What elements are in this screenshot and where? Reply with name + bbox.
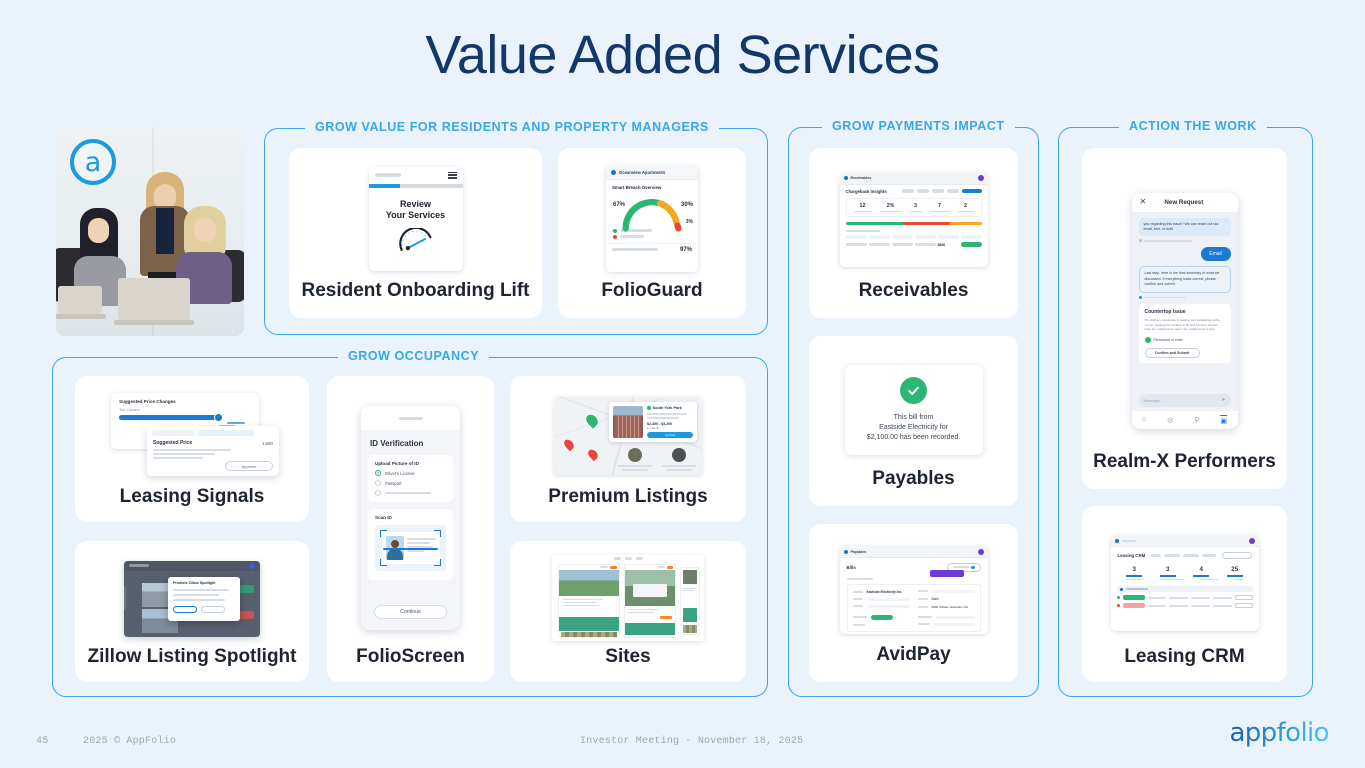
mockup-payables-toast: This bill from Eastside Electricity for … xyxy=(845,365,983,455)
key-icon[interactable]: ⚲ xyxy=(1194,416,1199,424)
receivables-panel-title: Chargeback Insights xyxy=(846,189,887,194)
stat-item: 25 xyxy=(1227,566,1243,577)
person-center-top xyxy=(156,208,174,254)
card-zillow-label: Zillow Listing Spotlight xyxy=(75,646,309,682)
card-avidpay-label: AvidPay xyxy=(809,644,1018,682)
realmx-bottom-nav: ⌂ ◎ ⚲ ▣ xyxy=(1132,411,1238,429)
chat-icon[interactable]: ▣ xyxy=(1220,415,1227,425)
status-badge xyxy=(1123,595,1145,600)
card-folioguard[interactable]: Oceanview Apartments Smart Breach Overvi… xyxy=(558,148,746,318)
price-changes-unit: The Camino xyxy=(111,404,259,412)
speedometer-icon xyxy=(398,228,434,252)
appfolio-logo-glyph: a xyxy=(85,147,102,178)
chat-bubble-incoming-1: you regarding this issue? We can reach o… xyxy=(1139,218,1231,237)
folioscreen-title: ID Verification xyxy=(361,430,460,455)
listing-photo xyxy=(613,406,643,438)
avidpay-avatar[interactable] xyxy=(978,549,984,555)
zillow-dialog-title: Promote Zillow Spotlight xyxy=(173,581,235,585)
crm-panel-title: Leasing CRM xyxy=(1118,553,1146,558)
receivables-table-title xyxy=(840,225,988,232)
card-resident-onboarding[interactable]: Review Your Services Resident Onboarding… xyxy=(289,148,542,318)
receivables-app-name: Receivables xyxy=(851,176,872,180)
compass-icon[interactable]: ◎ xyxy=(1167,416,1173,424)
onboarding-top-bar xyxy=(369,167,463,184)
avidpay-app-name: Payables xyxy=(851,550,867,554)
row-action-button[interactable] xyxy=(1235,603,1253,608)
crm-new-button[interactable] xyxy=(1222,552,1252,559)
summary-body: The kitchen countertop is peeling and se… xyxy=(1145,318,1225,332)
avidpay-panel-title: Bills xyxy=(847,565,856,570)
card-receivables-label: Receivables xyxy=(809,280,1018,318)
permission-row: Permission to enter xyxy=(1145,337,1225,343)
price-slider[interactable] xyxy=(119,415,219,420)
card-leasing-signals[interactable]: Suggested Price Changes The Camino xyxy=(75,376,309,522)
mockup-premium-listings: South York Park $2,450 - $3,200 1-2 Beds… xyxy=(554,397,702,475)
radio-selected-icon xyxy=(375,470,381,476)
folioscreen-scan-card: Scan ID xyxy=(368,509,453,580)
folioguard-legend-uncovered xyxy=(613,235,691,239)
card-avidpay[interactable]: Payables Bills xyxy=(809,524,1018,682)
realmx-header: ✕ New Request xyxy=(1132,193,1238,212)
upload-option-license-label: Driver's License xyxy=(385,471,415,476)
folioguard-right-pct: 30% xyxy=(681,202,693,208)
stat-item: 12 xyxy=(854,203,872,213)
realmx-header-title: New Request xyxy=(1146,199,1221,206)
folioscreen-upload-card: Upload Picture of ID Driver's License Pa… xyxy=(368,455,453,502)
chat-bubble-outgoing: Email xyxy=(1201,247,1231,261)
folioscreen-status-bar xyxy=(361,406,460,430)
continue-button[interactable]: Continue xyxy=(374,605,447,619)
card-realmx-label: Realm-X Performers xyxy=(1082,451,1287,489)
person-left-face xyxy=(88,218,109,243)
table-row[interactable] xyxy=(1117,603,1253,608)
stat-item: 2 xyxy=(958,203,974,213)
stat-item: 2% xyxy=(880,203,902,213)
realmx-summary-card: Countertop Issue The kitchen countertop … xyxy=(1139,304,1231,363)
card-leasing-signals-thumb: Suggested Price Changes The Camino xyxy=(75,384,309,486)
row-action-button[interactable] xyxy=(1235,595,1253,600)
crm-stats: 3 3 4 25 xyxy=(1111,559,1259,577)
folioguard-app-icon xyxy=(611,170,616,175)
site-page-3 xyxy=(680,567,700,635)
mockup-zillow-dashboard: Promote Zillow Spotlight xyxy=(124,561,260,637)
card-zillow-thumb: Promote Zillow Spotlight xyxy=(75,551,309,646)
mockup-leasing-signals: Suggested Price Changes The Camino xyxy=(103,393,281,477)
card-premium-listings-thumb: South York Park $2,450 - $3,200 1-2 Beds… xyxy=(510,386,746,486)
approve-button-label: Approve xyxy=(242,464,257,469)
realmx-chat: you regarding this issue? We can reach o… xyxy=(1132,212,1238,363)
confirm-submit-button[interactable]: Confirm and Submit xyxy=(1145,348,1200,358)
stat-item: 3 xyxy=(1126,566,1142,577)
table-row[interactable] xyxy=(1117,595,1253,600)
price-changes-title: Suggested Price Changes xyxy=(111,393,259,404)
home-icon[interactable]: ⌂ xyxy=(1142,416,1146,423)
realmx-composer[interactable]: Message... ➤ xyxy=(1139,394,1231,407)
folioguard-footer-pct: 97% xyxy=(680,247,692,253)
chat-bubble-outgoing-label: Email xyxy=(1209,251,1222,257)
footer-copyright: 2025 © AppFolio xyxy=(83,736,176,747)
stat-item: 4 xyxy=(1193,566,1209,577)
listing-contact-button[interactable]: Contact xyxy=(647,432,693,438)
mockup-sites xyxy=(552,555,704,641)
listing-mini-2[interactable] xyxy=(660,448,698,471)
footer: 45 2025 © AppFolio Investor Meeting - No… xyxy=(0,732,1365,754)
footer-meeting: Investor Meeting - November 18, 2025 xyxy=(580,736,803,747)
permission-label: Permission to enter xyxy=(1154,338,1183,342)
receivables-avatar[interactable] xyxy=(978,175,984,181)
hamburger-icon[interactable] xyxy=(448,172,457,179)
card-payables[interactable]: This bill from Eastside Electricity for … xyxy=(809,336,1018,506)
person-right-face xyxy=(194,218,216,242)
listing-contact-label: Contact xyxy=(665,433,675,437)
folioguard-header: Oceanview Apartments xyxy=(606,166,698,180)
card-leasing-crm-label: Leasing CRM xyxy=(1082,646,1287,682)
continue-button-label: Continue xyxy=(400,609,421,615)
zillow-confirm-button[interactable] xyxy=(173,606,197,613)
card-resident-onboarding-label: Resident Onboarding Lift xyxy=(289,280,542,318)
footer-page-number: 45 xyxy=(36,736,48,747)
permission-check-icon xyxy=(1145,337,1151,343)
group-residents-label: GROW VALUE FOR RESIDENTS AND PROPERTY MA… xyxy=(305,120,719,134)
group-occupancy-label: GROW OCCUPANCY xyxy=(338,349,489,363)
avidpay-highlight-badge xyxy=(930,570,964,577)
dialog-value: 1,650 xyxy=(262,441,273,446)
confirm-submit-label: Confirm and Submit xyxy=(1155,351,1189,355)
payables-msg-2: Eastside Electricity for xyxy=(867,423,960,433)
card-receivables[interactable]: Receivables Chargeback Insights xyxy=(809,148,1018,318)
legend-dot-uncovered xyxy=(613,235,617,239)
listing-detail-card: South York Park $2,450 - $3,200 1-2 Beds… xyxy=(609,402,697,442)
card-receivables-thumb: Receivables Chargeback Insights xyxy=(809,159,1018,280)
card-leasing-crm-thumb: Leasing CRM 3 3 xyxy=(1082,520,1287,646)
zillow-promote-dialog: Promote Zillow Spotlight xyxy=(168,577,240,621)
onboarding-headline-line1: Review xyxy=(373,199,459,210)
avidpay-status-chip xyxy=(871,615,893,620)
approve-button[interactable]: Approve xyxy=(225,461,273,471)
receivables-stats: 12 2% 3 7 2 xyxy=(846,198,982,218)
appfolio-logo-icon: a xyxy=(70,139,116,185)
payables-msg-1: This bill from xyxy=(867,413,960,423)
onboarding-headline-line2: Your Services xyxy=(373,210,459,221)
table-header-row xyxy=(846,235,982,239)
crm-table-header xyxy=(1117,586,1253,592)
hero-photo: a xyxy=(56,127,244,336)
card-zillow-spotlight[interactable]: Promote Zillow Spotlight Zillow Listing … xyxy=(75,541,309,682)
zillow-cancel-button[interactable] xyxy=(201,606,225,613)
site-page-2 xyxy=(624,564,676,638)
avidpay-form: Eastside Electricity Inc. xyxy=(847,584,981,632)
mockup-onboarding-phone: Review Your Services xyxy=(369,167,463,271)
avidpay-vendor: Eastside Electricity Inc. xyxy=(867,590,903,594)
receivables-table: $836 xyxy=(846,235,982,247)
mockup-folioguard-dashboard: Oceanview Apartments Smart Breach Overvi… xyxy=(606,166,698,272)
chat-bubble-incoming-2: Last step, here is the final summary of … xyxy=(1139,266,1231,293)
receivables-app-icon xyxy=(844,176,848,180)
scan-title: Scan ID xyxy=(375,515,446,520)
zillow-avatar xyxy=(249,563,255,569)
crm-avatar[interactable] xyxy=(1249,538,1255,544)
card-avidpay-thumb: Payables Bills xyxy=(809,536,1018,644)
upload-option-passport-label: Passport xyxy=(385,481,402,486)
card-folioscreen[interactable]: ID Verification Upload Picture of ID Dri… xyxy=(327,376,494,682)
listing-name: South York Park xyxy=(653,406,682,410)
status-badge xyxy=(961,242,982,247)
dialog-tab-2[interactable] xyxy=(198,430,254,436)
mockup-realmx-phone: ✕ New Request you regarding this issue? … xyxy=(1132,193,1238,429)
card-folioscreen-label: FolioScreen xyxy=(327,646,494,682)
dialog-title: Suggested Price xyxy=(153,440,192,446)
card-payables-thumb: This bill from Eastside Electricity for … xyxy=(809,352,1018,468)
table-row[interactable]: $836 xyxy=(846,242,982,247)
folioguard-gauge: 67% 30% 3% xyxy=(606,192,698,228)
card-sites-thumb xyxy=(510,549,746,646)
card-leasing-crm[interactable]: Leasing CRM 3 3 xyxy=(1082,506,1287,682)
card-premium-listings[interactable]: South York Park $2,450 - $3,200 1-2 Beds… xyxy=(510,376,746,522)
folioguard-footer: 97% xyxy=(606,243,698,256)
scan-line xyxy=(383,548,438,550)
group-action-label: ACTION THE WORK xyxy=(1119,119,1267,133)
suggested-price-dialog: Suggested Price 1,650 Approve xyxy=(147,426,279,476)
mockup-avidpay-dashboard: Payables Bills xyxy=(840,546,988,634)
status-badge xyxy=(1123,603,1145,608)
card-realmx-thumb: ✕ New Request you regarding this issue? … xyxy=(1082,170,1287,451)
slide-root: Value Added Services a xyxy=(0,0,1365,768)
upload-title: Upload Picture of ID xyxy=(375,461,446,466)
price-slider-handle[interactable] xyxy=(214,413,223,422)
crm-table-icon xyxy=(1120,588,1123,591)
folioguard-property: Oceanview Apartments xyxy=(619,170,665,175)
scan-frame xyxy=(375,525,446,571)
card-sites[interactable]: Sites xyxy=(510,541,746,682)
radio-icon-other xyxy=(375,490,381,496)
folioguard-small-pct: 3% xyxy=(686,219,693,225)
card-payables-label: Payables xyxy=(809,468,1018,506)
site-page-1 xyxy=(558,564,620,638)
page-title: Value Added Services xyxy=(0,0,1365,85)
card-folioguard-label: FolioGuard xyxy=(558,280,746,318)
summary-title: Countertop Issue xyxy=(1145,309,1225,315)
avidpay-app-icon xyxy=(844,550,848,554)
upload-option-passport[interactable]: Passport xyxy=(375,480,446,486)
mockup-leasing-crm-dashboard: Leasing CRM 3 3 xyxy=(1111,535,1259,631)
crm-table xyxy=(1117,595,1253,608)
listing-mini-1[interactable] xyxy=(616,448,654,471)
laptop-left xyxy=(58,286,102,314)
folioguard-section-title: Smart Breach Overview xyxy=(606,180,698,190)
dialog-tab-1[interactable] xyxy=(152,430,194,436)
listing-verified-icon xyxy=(647,406,651,410)
onboarding-logo-placeholder xyxy=(375,173,401,177)
card-folioguard-thumb: Oceanview Apartments Smart Breach Overvi… xyxy=(558,157,746,280)
upload-option-license[interactable]: Driver's License xyxy=(375,470,446,476)
group-payments-label: GROW PAYMENTS IMPACT xyxy=(822,119,1015,133)
crm-app-icon xyxy=(1115,539,1119,543)
listing-beds: 1-2 Beds xyxy=(647,426,693,430)
card-leasing-signals-label: Leasing Signals xyxy=(75,486,309,522)
send-icon[interactable]: ➤ xyxy=(1221,397,1225,403)
composer-placeholder: Message... xyxy=(1144,398,1164,403)
folioguard-left-pct: 67% xyxy=(613,202,625,208)
close-icon[interactable]: ✕ xyxy=(1140,198,1147,206)
appfolio-wordmark: appfolio xyxy=(1229,718,1329,748)
card-folioscreen-thumb: ID Verification Upload Picture of ID Dri… xyxy=(327,390,494,646)
mockup-folioscreen-phone: ID Verification Upload Picture of ID Dri… xyxy=(361,406,460,630)
upload-option-other[interactable] xyxy=(375,490,446,496)
stat-item: 7 xyxy=(930,203,950,213)
check-circle-icon xyxy=(900,377,927,404)
card-sites-label: Sites xyxy=(510,646,746,682)
stat-item: 3 xyxy=(1160,566,1176,577)
card-resident-onboarding-thumb: Review Your Services xyxy=(289,157,542,280)
card-realmx[interactable]: ✕ New Request you regarding this issue? … xyxy=(1082,148,1287,489)
stat-item: 3 xyxy=(910,203,922,213)
payables-msg-3: $2,100.00 has been recorded. xyxy=(867,433,960,443)
mockup-receivables-dashboard: Receivables Chargeback Insights xyxy=(840,173,988,267)
laptop-center xyxy=(118,278,190,320)
radio-icon xyxy=(375,480,381,486)
onboarding-headline: Review Your Services xyxy=(369,188,463,222)
card-premium-listings-label: Premium Listings xyxy=(510,486,746,522)
